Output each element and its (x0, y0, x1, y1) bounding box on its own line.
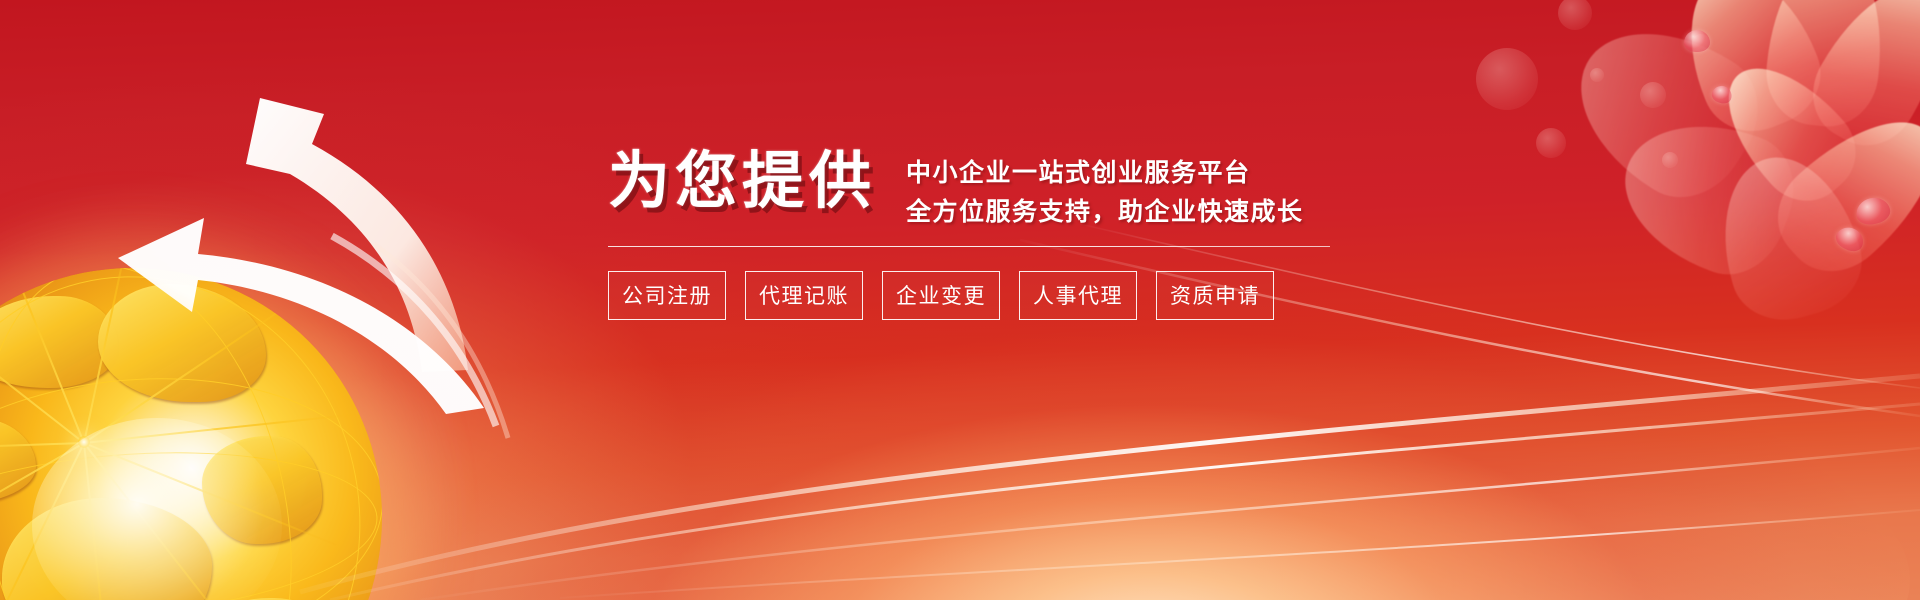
flower-petal-icon (1664, 0, 1835, 147)
bokeh-circle-icon (1640, 82, 1666, 108)
promo-banner: 为您提供 中小企业一站式创业服务平台 全方位服务支持，助企业快速成长 公司注册 … (0, 0, 1920, 600)
bokeh-circle-icon (1590, 68, 1604, 82)
bokeh-circle-icon (1536, 128, 1566, 158)
service-tag-company-registration[interactable]: 公司注册 (608, 271, 726, 320)
subtitle-line-2: 全方位服务支持，助企业快速成长 (906, 193, 1304, 232)
subtitle-line-1: 中小企业一站式创业服务平台 (906, 154, 1304, 193)
divider (608, 246, 1330, 247)
page-title: 为您提供 (608, 150, 876, 214)
banner-content: 为您提供 中小企业一站式创业服务平台 全方位服务支持，助企业快速成长 公司注册 … (608, 150, 1348, 320)
subtitle-block: 中小企业一站式创业服务平台 全方位服务支持，助企业快速成长 (906, 150, 1304, 232)
bokeh-circle-icon (1662, 152, 1678, 168)
bokeh-circle-icon (1558, 0, 1592, 30)
flower-petal-icon (1761, 0, 1891, 131)
service-tag-list: 公司注册 代理记账 企业变更 人事代理 资质申请 (608, 271, 1348, 320)
service-tag-hr-agency[interactable]: 人事代理 (1019, 271, 1137, 320)
service-tag-business-change[interactable]: 企业变更 (882, 271, 1000, 320)
bokeh-circle-icon (1476, 48, 1538, 110)
flower-petal-icon (1795, 0, 1920, 163)
bokeh-circle-icon (1692, 34, 1710, 52)
dewdrop-icon (1684, 30, 1710, 52)
headline-row: 为您提供 中小企业一站式创业服务平台 全方位服务支持，助企业快速成长 (608, 150, 1348, 232)
service-tag-qualification-application[interactable]: 资质申请 (1156, 271, 1274, 320)
dewdrop-icon (1710, 83, 1734, 105)
service-tag-bookkeeping[interactable]: 代理记账 (745, 271, 863, 320)
